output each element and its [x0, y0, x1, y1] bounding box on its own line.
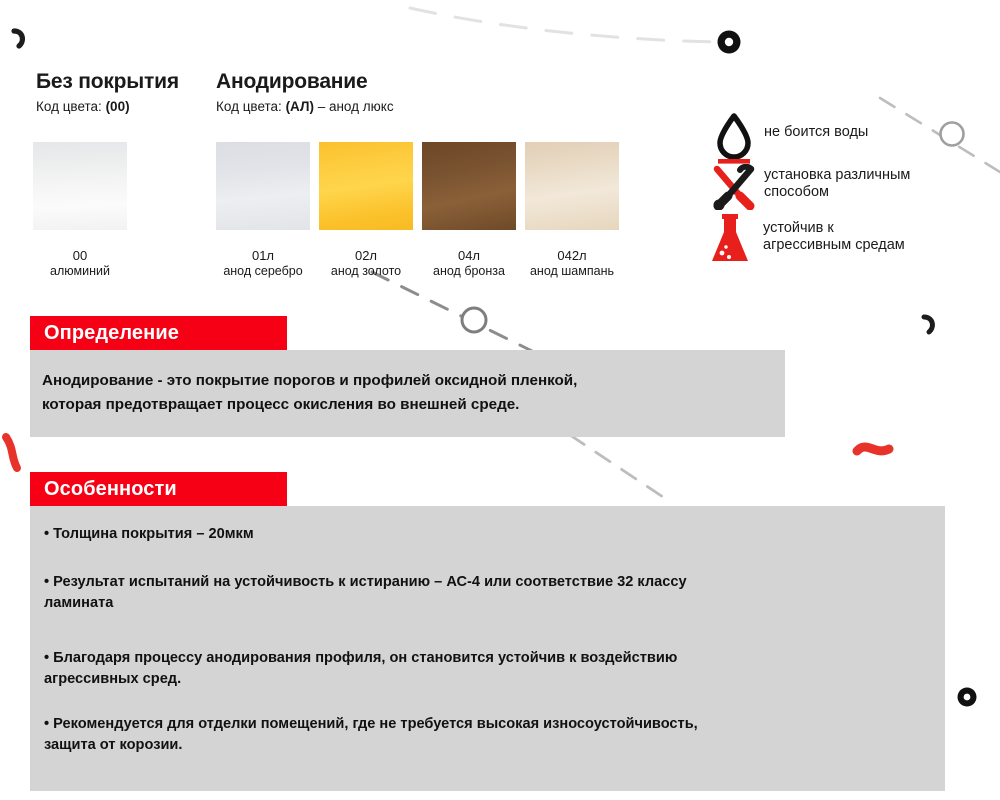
infographic-page: Без покрытия Код цвета: (00) Анодировани… — [0, 0, 1000, 800]
column-title-anodizing: Анодирование — [216, 70, 367, 94]
legend-label-install: установка различным способом — [764, 167, 910, 201]
swatch-code-00: 00 — [33, 248, 127, 263]
water-drop-icon — [712, 112, 756, 164]
swatch-02l[interactable] — [319, 142, 413, 230]
code-value-uncoated: (00) — [106, 99, 130, 114]
swatch-042l[interactable] — [525, 142, 619, 230]
swatch-name-042l: анод шампань — [512, 264, 632, 278]
column-subtitle-anodizing: Код цвета: (АЛ) – анод люкс — [216, 99, 394, 114]
column-subtitle-uncoated: Код цвета: (00) — [36, 99, 130, 114]
code-label-uncoated: Код цвета: — [36, 99, 106, 114]
code-value-anodizing: (АЛ) — [286, 99, 314, 114]
swatch-code-04l: 04л — [422, 248, 516, 263]
swatch-01l[interactable] — [216, 142, 310, 230]
dashed-line-top — [410, 8, 720, 42]
swatch-name-00: алюминий — [20, 264, 140, 278]
dashed-line-lower — [570, 435, 672, 503]
swatch-00[interactable] — [33, 142, 127, 230]
feature-item-4: • Рекомендуется для отделки помещений, г… — [44, 714, 949, 756]
definition-body: Анодирование - это покрытие порогов и пр… — [42, 369, 777, 416]
wrench-screwdriver-icon — [710, 164, 758, 210]
flask-icon — [709, 214, 751, 266]
ring-node-upper-right — [941, 123, 964, 146]
red-squiggle-left — [6, 437, 17, 468]
donut-ring-top-right — [718, 31, 741, 54]
swatch-code-01l: 01л — [216, 248, 310, 263]
comma-mark-right — [924, 317, 932, 332]
feature-item-3: • Благодаря процессу анодирования профил… — [44, 648, 934, 690]
swatch-code-042l: 042л — [525, 248, 619, 263]
feature-item-2: • Результат испытаний на устойчивость к … — [44, 572, 934, 614]
feature-item-1: • Толщина покрытия – 20мкм — [44, 524, 934, 545]
features-badge: Особенности — [30, 472, 287, 506]
legend-label-water: не боится воды — [764, 124, 868, 141]
swatch-name-02l: анод золото — [306, 264, 426, 278]
ring-node-middle — [462, 308, 486, 332]
dashed-line-middle — [372, 272, 540, 355]
legend-label-chemical: устойчив к агрессивным средам — [763, 220, 905, 254]
swatch-code-02l: 02л — [319, 248, 413, 263]
code-label-anodizing: Код цвета: — [216, 99, 286, 114]
red-squiggle-right — [857, 447, 889, 451]
definition-badge: Определение — [30, 316, 287, 350]
swatch-04l[interactable] — [422, 142, 516, 230]
code-suffix-anodizing: – анод люкс — [314, 99, 394, 114]
column-title-uncoated: Без покрытия — [36, 70, 179, 94]
donut-ring-bottom-right — [958, 688, 977, 707]
swatch-name-04l: анод бронза — [409, 264, 529, 278]
swatch-name-01l: анод серебро — [203, 264, 323, 278]
comma-mark-top-left — [14, 31, 22, 46]
